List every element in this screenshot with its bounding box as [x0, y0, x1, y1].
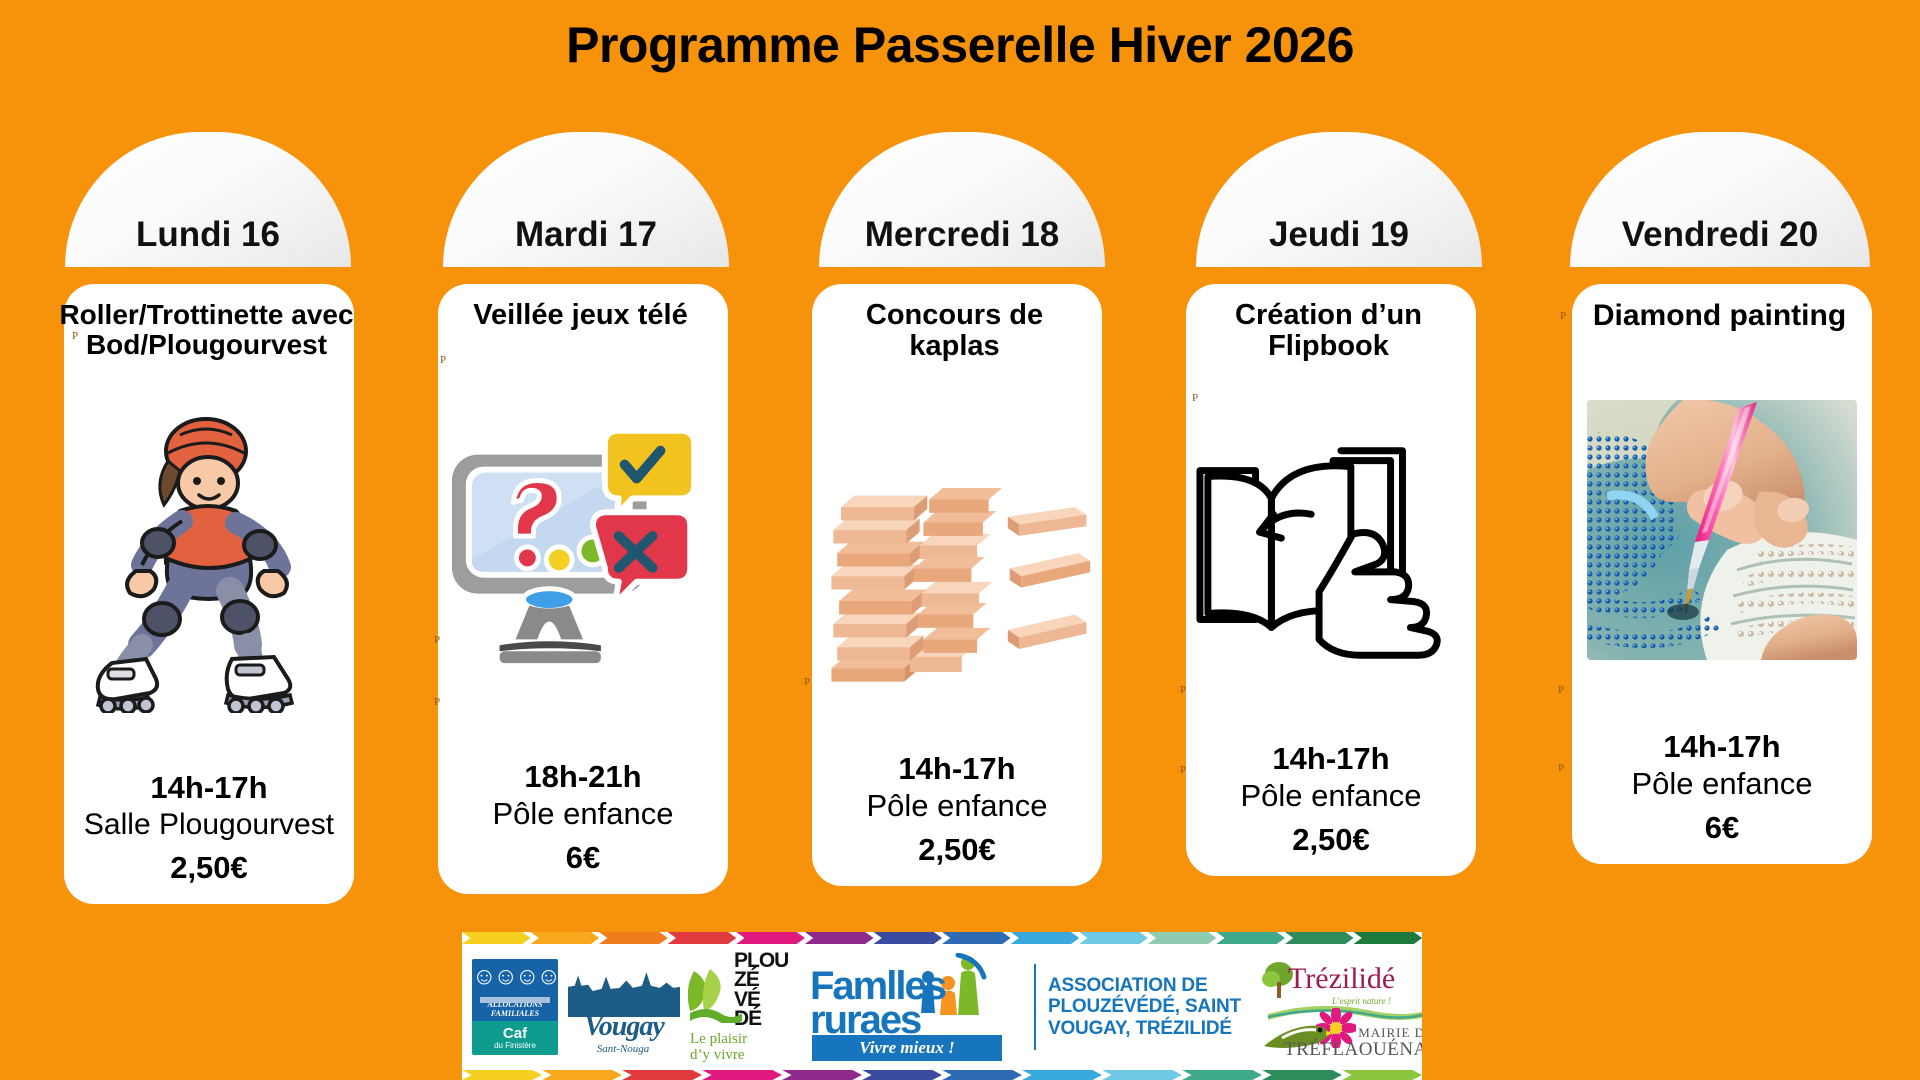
day-column-jeudi: Jeudi 19 P P P Création d’un Flipbook — [1144, 132, 1518, 876]
logo-caf: ☺☺☺☺ ALLOCATIONS FAMILIALES Caf du Finis… — [472, 959, 558, 1055]
day-card-mercredi: P Concours de kaplas — [812, 284, 1102, 886]
caf-top: ☺☺☺☺ ALLOCATIONS FAMILIALES — [472, 959, 558, 1021]
caf-name: Caf — [503, 1026, 527, 1041]
treflaouenan-name: MAIRIE DE TRÉFLAOUÉNAN — [1284, 1026, 1422, 1060]
caf-bottom: Caf du Finistère — [472, 1021, 558, 1055]
page-title: Programme Passerelle Hiver 2026 — [0, 16, 1920, 74]
activity-place-jeudi: Pôle enfance — [1192, 777, 1470, 816]
day-column-mercredi: Mercredi 18 P Concours de kaplas — [770, 132, 1144, 886]
stray-artifact-p: P — [1180, 764, 1186, 776]
trezilide-name: Trézilidé — [1288, 962, 1395, 996]
flipbook-icon — [1192, 436, 1470, 666]
activity-time-mardi: 18h-21h — [444, 758, 722, 795]
stray-artifact-p: P — [1558, 684, 1564, 696]
activity-time-vendredi: 14h-17h — [1578, 728, 1866, 765]
logo-plouzevede: PLOU ZÉ VÉ DÉ Le plaisir d’y vivre — [688, 951, 804, 1063]
kapla-tower-icon — [818, 411, 1096, 701]
day-card-jeudi: P P P Création d’un Flipbook — [1186, 284, 1476, 876]
day-column-lundi: Lundi 16 P Roller/Trottinette avec Bod/P… — [22, 132, 396, 904]
activity-art-mercredi — [818, 363, 1096, 750]
activity-place-lundi: Salle Plougourvest — [70, 806, 348, 844]
activity-title-mercredi: Concours de kaplas — [805, 300, 1105, 363]
plouzevede-letters: PLOU ZÉ VÉ DÉ — [734, 951, 802, 1028]
logo-row: ☺☺☺☺ ALLOCATIONS FAMILIALES Caf du Finis… — [462, 944, 1422, 1070]
info-block-jeudi: 14h-17h Pôle enfance 2,50€ — [1192, 740, 1470, 862]
day-header-arch-vendredi: Vendredi 20 — [1570, 132, 1870, 267]
activity-price-vendredi: 6€ — [1578, 808, 1866, 848]
caf-region: du Finistère — [494, 1041, 536, 1051]
info-block-vendredi: 14h-17h Pôle enfance 6€ — [1578, 728, 1866, 850]
activity-time-mercredi: 14h-17h — [818, 750, 1096, 787]
day-card-lundi: P Roller/Trottinette avec Bod/Plougourve… — [64, 284, 354, 904]
roller-skater-icon — [84, 413, 334, 713]
activity-place-vendredi: Pôle enfance — [1578, 765, 1866, 804]
activity-title-mardi: Veillée jeux télé — [431, 300, 731, 331]
activity-art-vendredi — [1578, 332, 1866, 727]
info-block-mercredi: 14h-17h Pôle enfance 2,50€ — [818, 750, 1096, 872]
day-label-vendredi: Vendredi 20 — [1622, 215, 1818, 255]
activity-art-lundi — [70, 356, 348, 769]
activity-price-mardi: 6€ — [444, 838, 722, 878]
logo-divider — [1034, 964, 1036, 1050]
day-card-mardi: P P P Veillée jeux télé — [438, 284, 728, 894]
activity-place-mardi: Pôle enfance — [444, 795, 722, 834]
stray-artifact-p: P — [1558, 762, 1564, 774]
vougay-subtitle: Sant-Nouga — [564, 1043, 682, 1055]
day-header-arch-jeudi: Jeudi 19 — [1196, 132, 1482, 267]
partner-logo-bar: ☺☺☺☺ ALLOCATIONS FAMILIALES Caf du Finis… — [462, 932, 1422, 1080]
plouzevede-tagline: Le plaisir d’y vivre — [690, 1032, 804, 1063]
activity-time-jeudi: 14h-17h — [1192, 740, 1470, 777]
activity-art-mardi — [444, 331, 722, 757]
days-row: Lundi 16 P Roller/Trottinette avec Bod/P… — [22, 132, 1902, 922]
tv-quiz-icon — [444, 410, 722, 680]
day-label-lundi: Lundi 16 — [136, 215, 280, 255]
caf-line2: FAMILIALES — [491, 1009, 539, 1018]
activity-art-jeudi — [1192, 363, 1470, 740]
day-column-vendredi: Vendredi 20 P P P Diamond painting — [1518, 132, 1892, 864]
day-label-jeudi: Jeudi 19 — [1269, 215, 1409, 255]
activity-price-jeudi: 2,50€ — [1192, 820, 1470, 860]
activity-price-lundi: 2,50€ — [70, 848, 348, 888]
rurales-word: ruraes — [810, 1003, 920, 1038]
vougay-name: Saint Vougay — [566, 993, 682, 1039]
mairie-line2: TRÉFLAOUÉNAN — [1284, 1040, 1422, 1060]
caf-people-icon: ☺☺☺☺ — [472, 967, 558, 986]
activity-title-vendredi: Diamond painting — [1560, 300, 1880, 332]
stray-artifact-p: P — [434, 634, 440, 646]
chevron-strip-bottom — [462, 1070, 1422, 1080]
logo-saint-vougay: Saint Vougay Sant-Nouga — [564, 957, 682, 1057]
diamond-painting-photo — [1587, 400, 1857, 660]
chevron-strip-top — [462, 932, 1422, 944]
activity-title-lundi: Roller/Trottinette avec Bod/Plougourvest — [57, 300, 357, 360]
info-block-lundi: 14h-17h Salle Plougourvest 2,50€ — [70, 769, 348, 890]
activity-time-lundi: 14h-17h — [70, 769, 348, 806]
info-block-mardi: 18h-21h Pôle enfance 6€ — [444, 758, 722, 880]
day-card-vendredi: P P P Diamond painting — [1572, 284, 1872, 864]
day-header-arch-mardi: Mardi 17 — [443, 132, 729, 267]
stray-artifact-p: P — [1180, 684, 1186, 696]
vougay-name2: Vougay — [584, 1011, 664, 1042]
day-header-arch-mercredi: Mercredi 18 — [819, 132, 1105, 267]
day-header-arch-lundi: Lundi 16 — [65, 132, 351, 267]
day-label-mercredi: Mercredi 18 — [865, 215, 1060, 255]
caf-bar — [480, 997, 550, 1003]
activity-price-mercredi: 2,50€ — [818, 830, 1096, 870]
day-label-mardi: Mardi 17 — [515, 215, 657, 255]
day-column-mardi: Mardi 17 P P P Veillée jeux télé — [396, 132, 770, 894]
familles-ribbon: Vivre mieux ! — [812, 1035, 1002, 1061]
association-text: ASSOCIATION DE PLOUZÉVÉDÉ, SAINT VOUGAY,… — [1048, 975, 1256, 1039]
activity-title-jeudi: Création d’un Flipbook — [1179, 300, 1479, 363]
leaf-wave-icon — [688, 967, 742, 1023]
activity-place-mercredi: Pôle enfance — [818, 787, 1096, 826]
familles-slogan: Vivre mieux ! — [859, 1038, 954, 1058]
stray-artifact-p: P — [804, 676, 810, 688]
stray-artifact-p: P — [434, 696, 440, 708]
logo-familles-rurales: Famlles ruraes Vivre mieux ! — [810, 953, 1022, 1061]
logo-trezilide: Trézilidé L’esprit nature ! — [1262, 952, 1422, 1062]
